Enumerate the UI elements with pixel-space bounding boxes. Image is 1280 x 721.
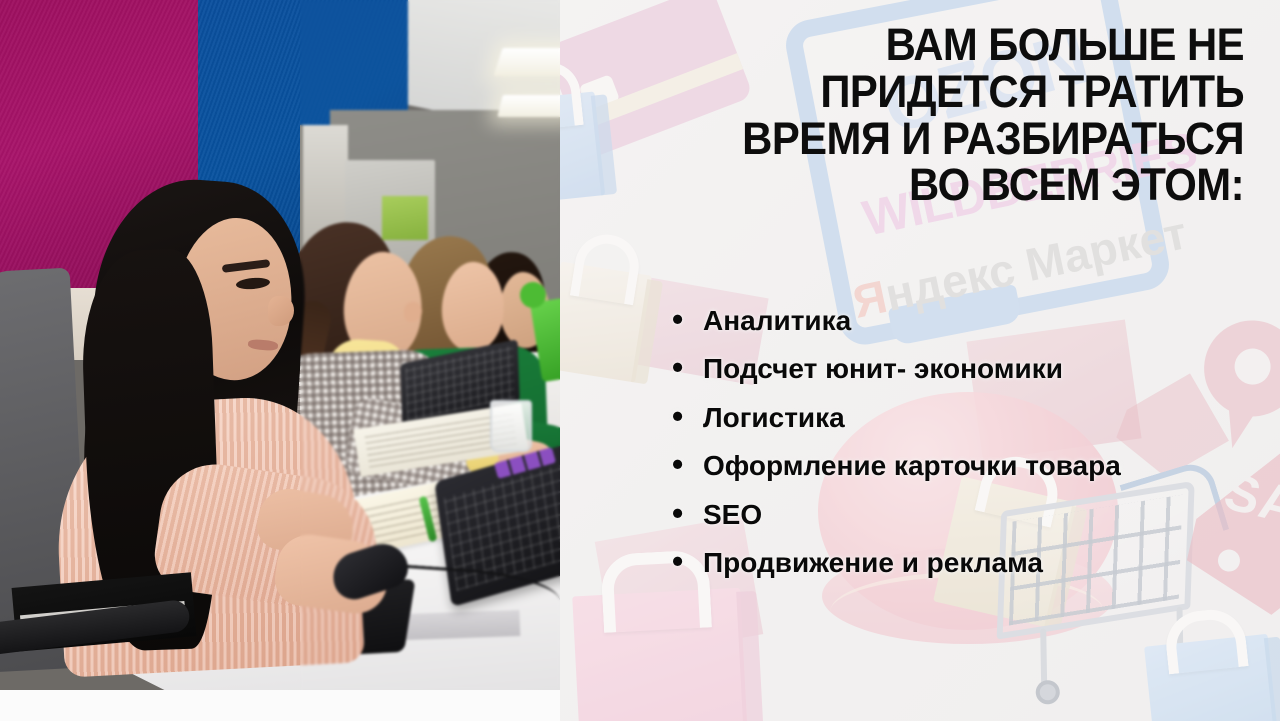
list-item: Логистика (670, 403, 1270, 432)
list-item: Продвижение и реклама (670, 548, 1270, 577)
headline-line-1: ВАМ БОЛЬШЕ НЕ (710, 22, 1244, 69)
text-content: ВАМ БОЛЬШЕ НЕ ПРИДЕТСЯ ТРАТИТЬ ВРЕМЯ И Р… (560, 0, 1280, 721)
content-panel: OZON WILDBERRIES Яндекс Маркет (560, 0, 1280, 721)
office-photo (0, 0, 560, 690)
headline: ВАМ БОЛЬШЕ НЕ ПРИДЕТСЯ ТРАТИТЬ ВРЕМЯ И Р… (710, 22, 1244, 209)
ceiling-lamp (493, 48, 560, 76)
list-item: SEO (670, 500, 1270, 529)
green-object (520, 282, 546, 308)
list-item: Подсчет юнит- экономики (670, 354, 1270, 383)
list-item: Аналитика (670, 306, 1270, 335)
photo-panel (0, 0, 560, 721)
list-item: Оформление карточки товара (670, 451, 1270, 480)
headline-line-4: ВО ВСЕМ ЭТОМ: (710, 162, 1244, 209)
service-list: Аналитика Подсчет юнит- экономики Логист… (670, 306, 1270, 577)
photo-bottom-border (0, 690, 560, 721)
ceiling-lamp (497, 95, 560, 117)
headline-line-2: ПРИДЕТСЯ ТРАТИТЬ (710, 69, 1244, 116)
headline-line-3: ВРЕМЯ И РАЗБИРАТЬСЯ (710, 116, 1244, 163)
green-poster (382, 196, 428, 240)
slide-root: OZON WILDBERRIES Яндекс Маркет (0, 0, 1280, 721)
drinking-glass (490, 400, 532, 452)
